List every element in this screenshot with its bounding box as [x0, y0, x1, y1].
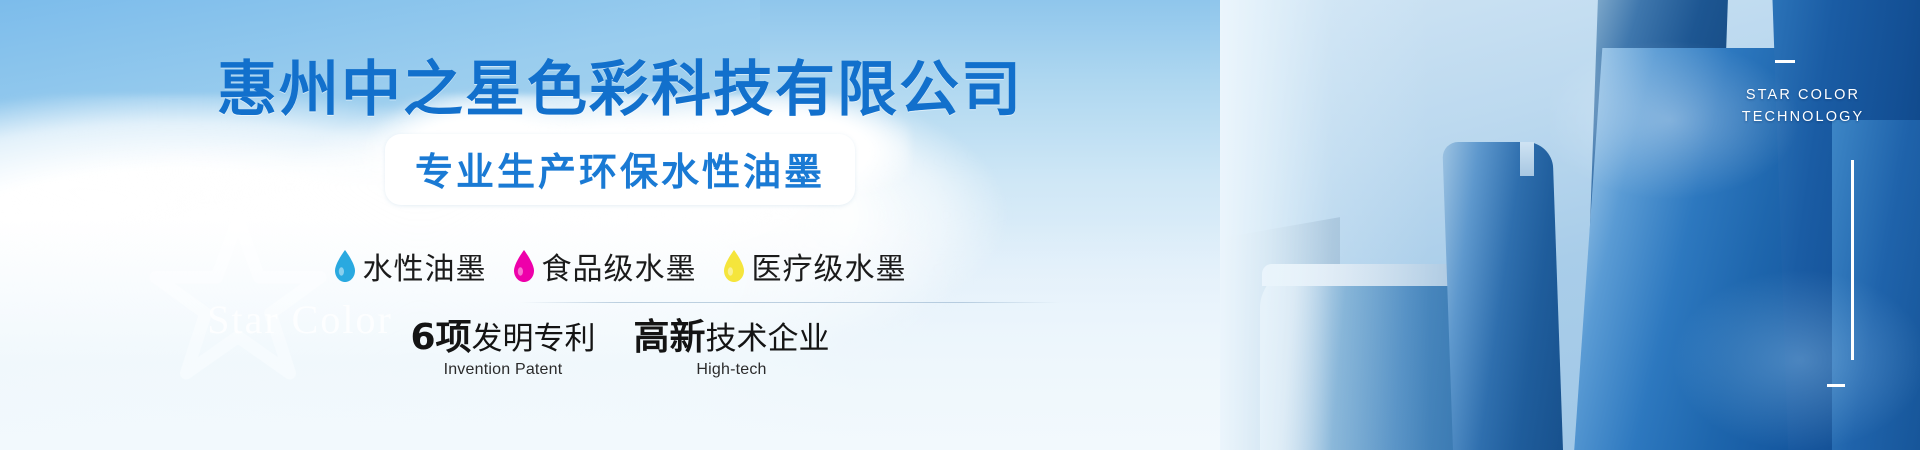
water-drop-icon	[334, 250, 356, 282]
subtitle-row: 专业生产环保水性油墨	[0, 134, 1240, 205]
feature-item: 水性油墨	[334, 244, 487, 288]
side-brand-line-2: TECHNOLOGY	[1698, 106, 1908, 128]
side-brand-line-1: STAR COLOR	[1698, 84, 1908, 106]
water-drop-icon	[513, 250, 535, 282]
badge-prefix: 高新	[634, 317, 706, 358]
brand-dash-top	[1775, 60, 1795, 63]
feature-label: 食品级水墨	[542, 244, 697, 288]
promo-banner: Star Color STAR COLOR TECHNOLOGY 惠州中之星色彩…	[0, 0, 1920, 450]
badge-chinese-text: 6项发明专利	[410, 316, 595, 359]
photo-left-fade-mask	[1220, 0, 1920, 450]
feature-item: 医疗级水墨	[723, 244, 907, 288]
badge-suffix: 技术企业	[706, 321, 830, 357]
feature-label: 医疗级水墨	[752, 244, 907, 288]
section-divider	[520, 302, 1060, 303]
subtitle-pill: 专业生产环保水性油墨	[385, 134, 855, 205]
badge-english-text: High-tech	[634, 361, 830, 379]
skyscrapers-photo	[1220, 0, 1920, 450]
company-title: 惠州中之星色彩科技有限公司	[0, 57, 1240, 124]
badge-prefix: 6项	[410, 317, 471, 358]
brand-dash-bottom	[1827, 384, 1845, 387]
feature-item: 食品级水墨	[513, 244, 697, 288]
brand-vertical-line	[1851, 160, 1854, 360]
feature-label: 水性油墨	[363, 244, 487, 288]
badge-english-text: Invention Patent	[410, 361, 595, 379]
feature-list: 水性油墨食品级水墨医疗级水墨	[0, 244, 1240, 288]
badge-list: 6项发明专利Invention Patent高新技术企业High-tech	[0, 316, 1240, 379]
badge-chinese-text: 高新技术企业	[634, 316, 830, 359]
water-drop-icon	[723, 250, 745, 282]
badge-item: 高新技术企业High-tech	[634, 316, 830, 379]
banner-content: 惠州中之星色彩科技有限公司 专业生产环保水性油墨 水性油墨食品级水墨医疗级水墨 …	[0, 0, 1240, 450]
badge-suffix: 发明专利	[472, 321, 596, 357]
badge-item: 6项发明专利Invention Patent	[410, 316, 595, 379]
side-brand-text: STAR COLOR TECHNOLOGY	[1698, 84, 1908, 129]
